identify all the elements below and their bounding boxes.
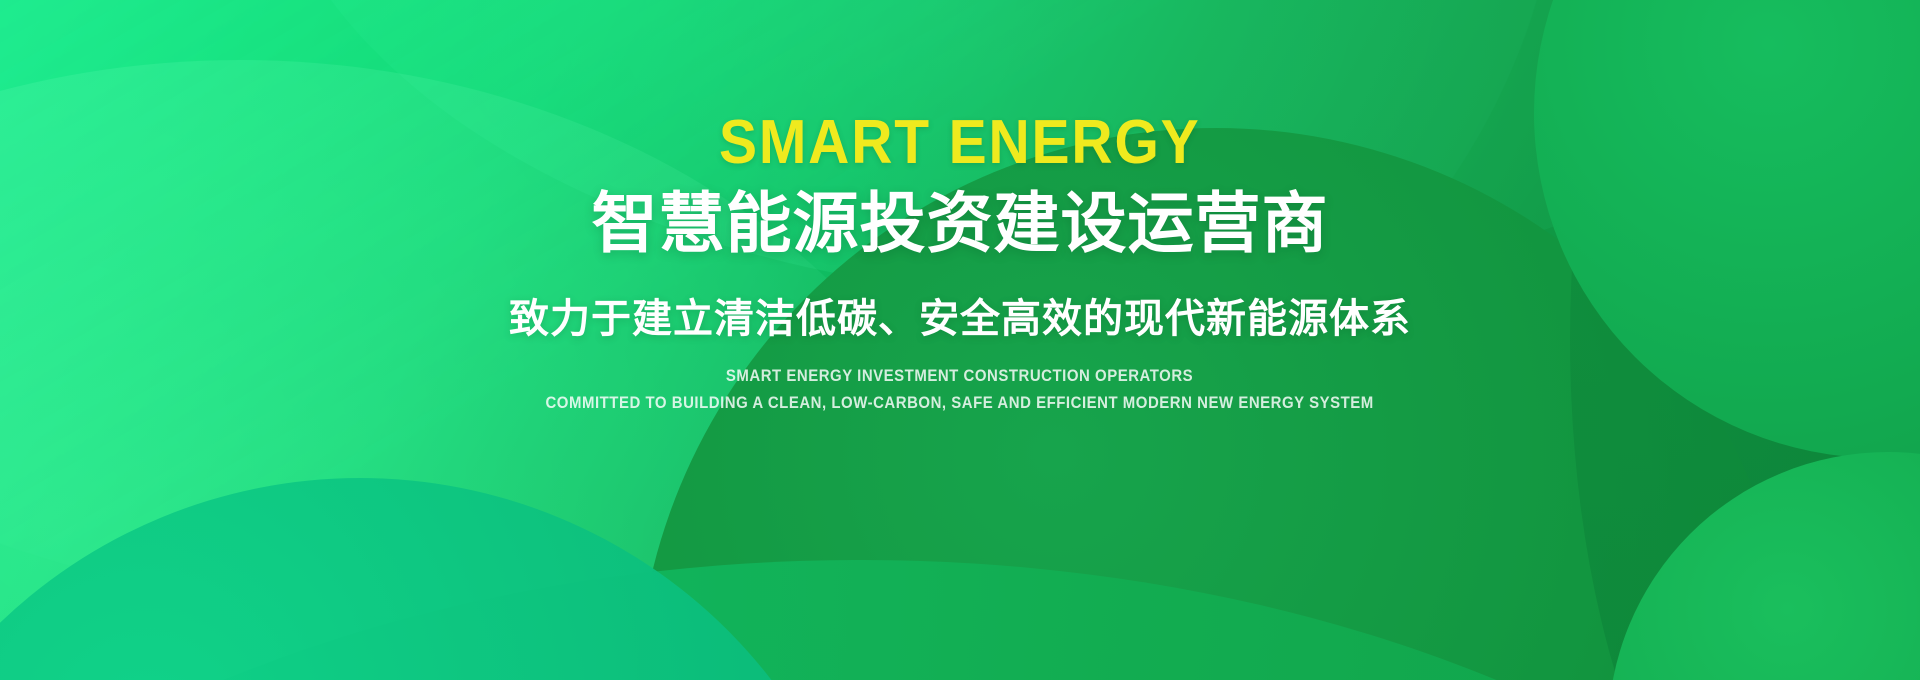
headline-english: SMART ENERGY: [719, 112, 1201, 174]
english-subtitle-line-2: COMMITTED TO BUILDING A CLEAN, LOW-CARBO…: [546, 392, 1374, 413]
subheadline-chinese: 致力于建立清洁低碳、安全高效的现代新能源体系: [509, 295, 1411, 343]
english-subtitle-block: SMART ENERGY INVESTMENT CONSTRUCTION OPE…: [489, 365, 1430, 413]
banner-content: SMART ENERGY 智慧能源投资建设运营商 致力于建立清洁低碳、安全高效的…: [0, 0, 1920, 680]
hero-banner: SMART ENERGY 智慧能源投资建设运营商 致力于建立清洁低碳、安全高效的…: [0, 0, 1920, 680]
english-subtitle-line-1: SMART ENERGY INVESTMENT CONSTRUCTION OPE…: [726, 365, 1193, 386]
headline-chinese: 智慧能源投资建设运营商: [592, 188, 1329, 259]
